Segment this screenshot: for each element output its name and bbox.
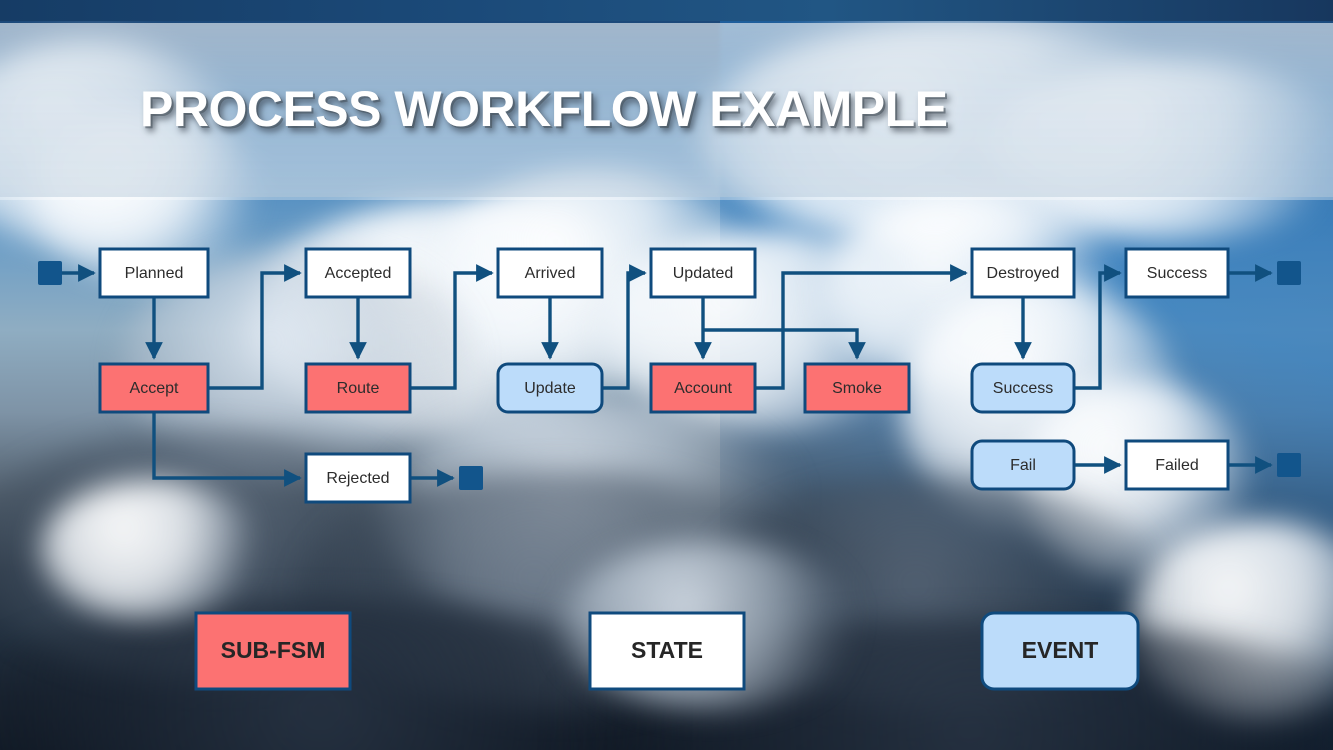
terminal-end-failed (1277, 453, 1301, 477)
legend-subfsm-label: SUB-FSM (221, 637, 326, 663)
node-label-accepted: Accepted (325, 265, 392, 282)
node-success_s[interactable]: Success (1126, 249, 1228, 297)
node-label-arrived: Arrived (525, 265, 576, 282)
node-update[interactable]: Update (498, 364, 602, 412)
workflow-diagram: PlannedAcceptAcceptedRouteRejectedArrive… (0, 0, 1333, 750)
slide-canvas: PROCESS WORKFLOW EXAMPLE PlannedAcceptAc… (0, 0, 1333, 750)
node-smoke[interactable]: Smoke (805, 364, 909, 412)
node-accepted[interactable]: Accepted (306, 249, 410, 297)
node-label-update: Update (524, 380, 576, 397)
legend-state[interactable]: STATE (590, 613, 744, 689)
node-label-smoke: Smoke (832, 380, 882, 397)
terminal-end-reject (459, 466, 483, 490)
edge-update-updated (602, 273, 645, 388)
node-label-updated: Updated (673, 265, 734, 282)
node-fail_e[interactable]: Fail (972, 441, 1074, 489)
legend-event-label: EVENT (1022, 637, 1099, 663)
node-route[interactable]: Route (306, 364, 410, 412)
node-planned[interactable]: Planned (100, 249, 208, 297)
legend-layer: SUB-FSMSTATEEVENT (196, 613, 1138, 689)
legend-state-label: STATE (631, 637, 703, 663)
node-label-success_e: Success (993, 380, 1053, 397)
node-updated[interactable]: Updated (651, 249, 755, 297)
node-label-route: Route (337, 380, 380, 397)
edge-route-arrived (410, 273, 492, 388)
node-rejected[interactable]: Rejected (306, 454, 410, 502)
node-label-destroyed: Destroyed (987, 265, 1060, 282)
edge-success-success (1074, 273, 1120, 388)
edge-accept-accepted (208, 273, 300, 388)
node-label-fail_e: Fail (1010, 457, 1036, 474)
node-label-planned: Planned (125, 265, 184, 282)
terminal-end-success (1277, 261, 1301, 285)
edge-accept-rejected (154, 412, 300, 478)
node-accept[interactable]: Accept (100, 364, 208, 412)
node-label-failed_s: Failed (1155, 457, 1199, 474)
node-account[interactable]: Account (651, 364, 755, 412)
node-arrived[interactable]: Arrived (498, 249, 602, 297)
node-label-account: Account (674, 380, 732, 397)
node-label-accept: Accept (130, 380, 179, 397)
nodes-layer: PlannedAcceptAcceptedRouteRejectedArrive… (100, 249, 1228, 502)
node-failed_s[interactable]: Failed (1126, 441, 1228, 489)
node-destroyed[interactable]: Destroyed (972, 249, 1074, 297)
edge-updated-smoke (703, 330, 857, 358)
node-success_e[interactable]: Success (972, 364, 1074, 412)
terminal-start (38, 261, 62, 285)
legend-event[interactable]: EVENT (982, 613, 1138, 689)
legend-subfsm[interactable]: SUB-FSM (196, 613, 350, 689)
node-label-rejected: Rejected (326, 470, 389, 487)
node-label-success_s: Success (1147, 265, 1207, 282)
